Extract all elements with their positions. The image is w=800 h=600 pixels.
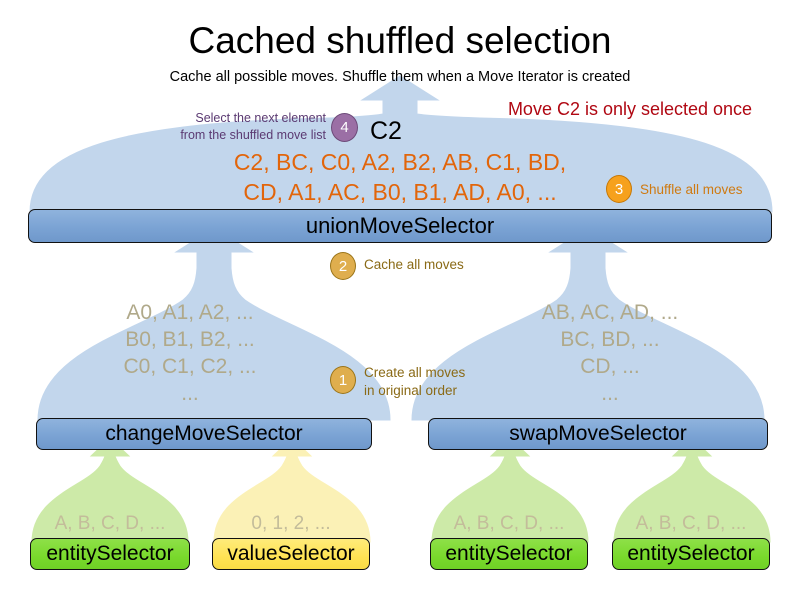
entity-selector-1-box[interactable]: entitySelector [30,538,190,570]
entity-selector-3-label: entitySelector [627,542,754,566]
step-badge-3: 3 [606,175,632,203]
callout-note-select-next: Select the next element from the shuffle… [168,110,326,144]
swap-move-selector-box[interactable]: swapMoveSelector [428,418,768,450]
entity-selector-2-label: entitySelector [445,542,572,566]
step-badge-4: 4 [331,113,358,142]
change-move-selector-label: changeMoveSelector [105,422,302,446]
diagram-canvas: Cached shuffled selection Cache all poss… [0,0,800,600]
funnel-entity3-to-swap [614,438,770,542]
page-subtitle: Cache all possible moves. Shuffle them w… [0,69,800,85]
callout-note-selected-once: Move C2 is only selected once [470,99,790,120]
step-badge-1: 1 [330,366,356,394]
step-label-3: Shuffle all moves [640,181,743,199]
change-move-selector-box[interactable]: changeMoveSelector [36,418,372,450]
funnel-value-to-change [214,438,370,542]
step-label-2: Cache all moves [364,256,464,274]
union-move-selector-box[interactable]: unionMoveSelector [28,209,772,243]
funnel-entity1-body [32,438,188,542]
entity-selector-2-box[interactable]: entitySelector [430,538,588,570]
value-selector-1-box[interactable]: valueSelector [212,538,370,570]
arrow-funnels-layer [0,0,800,600]
entity-selector-3-box[interactable]: entitySelector [612,538,770,570]
union-move-selector-label: unionMoveSelector [306,213,494,239]
step-badge-2: 2 [330,252,356,280]
funnel-entity2-to-swap [432,438,588,542]
step-label-1: Create all moves in original order [364,364,465,399]
swap-move-selector-label: swapMoveSelector [509,422,686,446]
entity-selector-1-label: entitySelector [46,542,173,566]
value-selector-1-label: valueSelector [227,542,354,566]
selected-move-label: C2 [370,117,402,146]
page-title: Cached shuffled selection [0,22,800,61]
